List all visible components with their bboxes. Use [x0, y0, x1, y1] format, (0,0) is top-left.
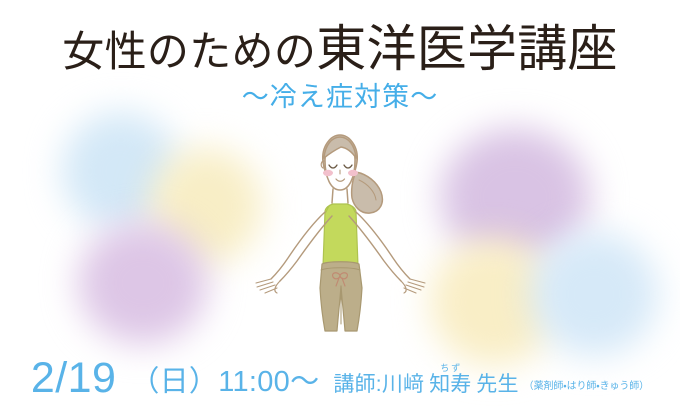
subtitle-text: 〜冷え症対策〜 [0, 84, 680, 111]
speaker-qualifications: （薬剤師・はり師・きゅう師） [524, 382, 649, 396]
title-block: 女性のための東洋医学講座 〜冷え症対策〜 [0, 24, 680, 111]
speaker-info: 講師:川﨑 ちず 知寿 先生 （薬剤師・はり師・きゅう師） [333, 364, 649, 399]
blob-left-purple-circle [78, 222, 208, 344]
title-emphasis-text: 東洋医学講座 [316, 21, 618, 77]
blob-right-purple-circle [440, 128, 590, 266]
woman-illustration [225, 128, 455, 368]
speaker-name: 知寿 [429, 374, 471, 396]
speaker-label: 講師:川﨑 [333, 374, 424, 396]
speaker-honorific: 先生 [476, 374, 518, 396]
event-date: 2/19 [31, 358, 116, 399]
blob-right-blue-circle [530, 232, 658, 356]
speaker-name-furigana: ちず [438, 364, 462, 373]
title-lead-text: 女性のための [62, 28, 316, 75]
event-weekday-time: （日）11:00〜 [130, 367, 319, 399]
speaker-name-ruby-group: ちず 知寿 [429, 364, 471, 396]
seminar-poster: 女性のための東洋医学講座 〜冷え症対策〜 [0, 0, 680, 419]
blob-left-blue-circle [62, 112, 180, 230]
woman-figure-icon [225, 128, 455, 368]
event-info-bar: 2/19 （日）11:00〜 講師:川﨑 ちず 知寿 先生 （薬剤師・はり師・き… [0, 358, 680, 399]
page-title: 女性のための東洋医学講座 [0, 24, 680, 74]
